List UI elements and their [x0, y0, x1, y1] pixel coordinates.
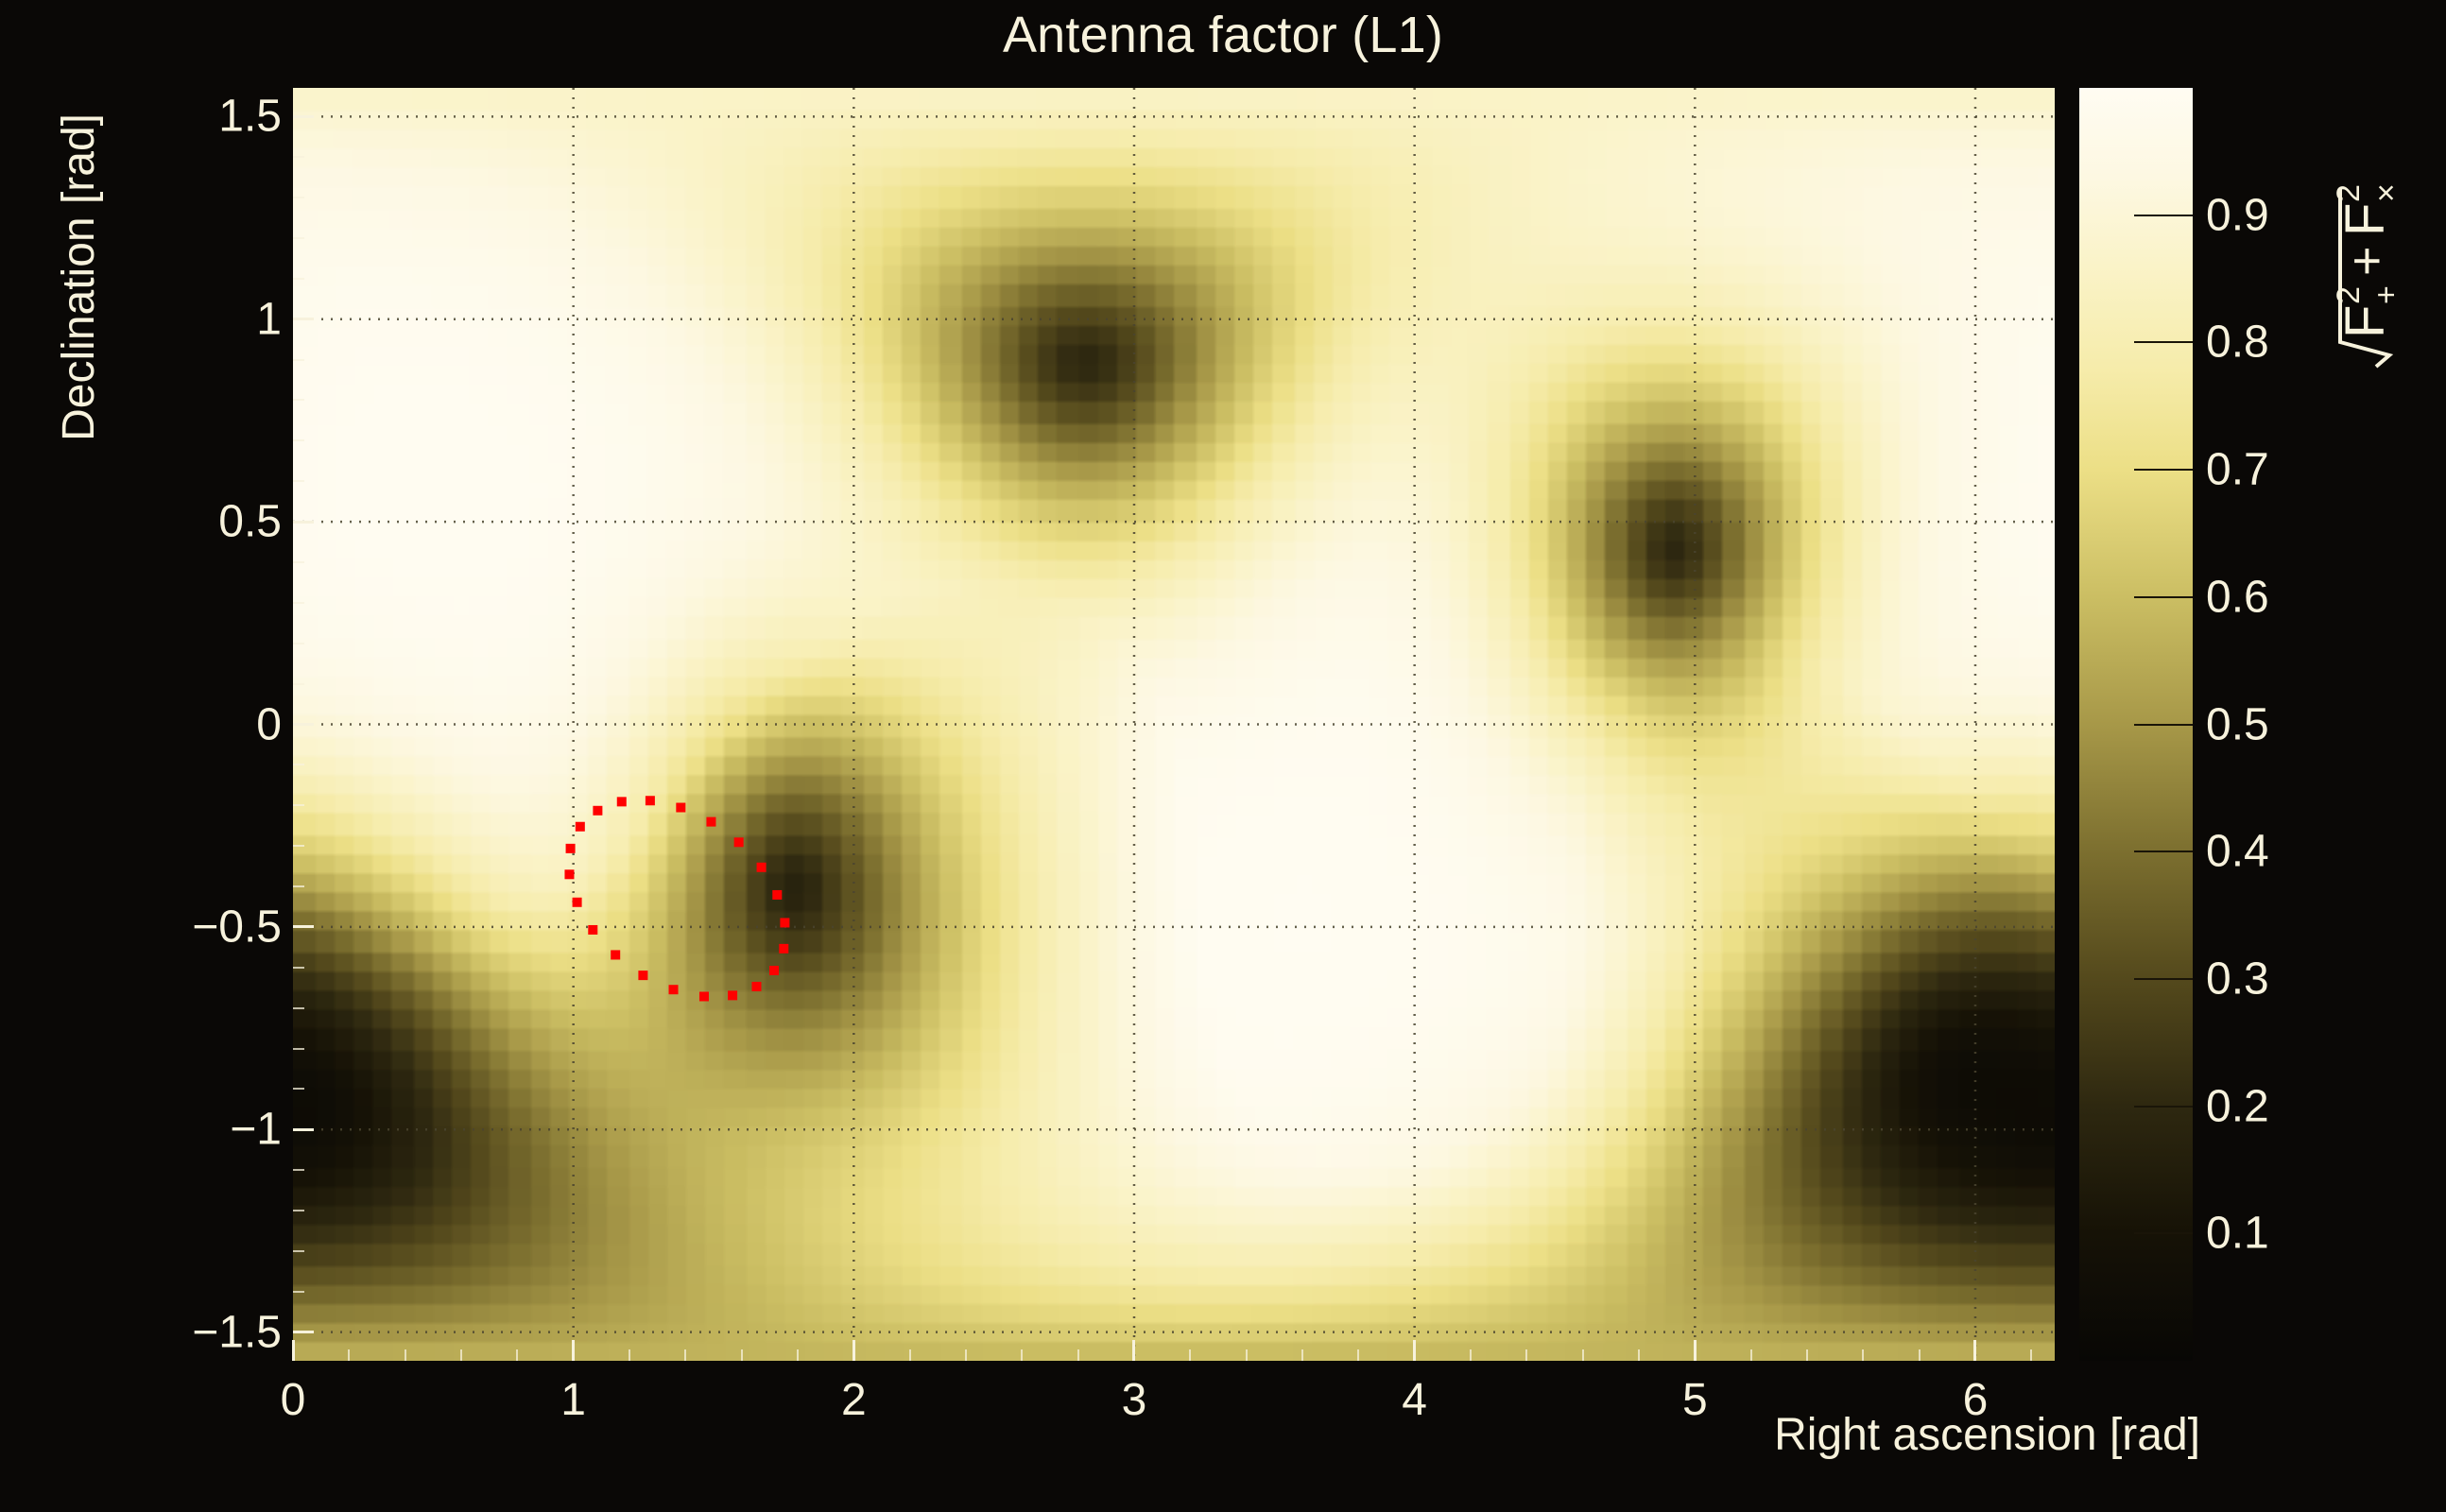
y-tick: [293, 723, 314, 726]
x-minor-tick: [1021, 1349, 1023, 1361]
colorbar-tick-label: 0.9: [2206, 189, 2269, 241]
x-tick: [1132, 1340, 1135, 1361]
colorbar-tick: [2134, 1106, 2193, 1108]
y-minor-tick: [293, 643, 304, 644]
x-minor-tick: [965, 1349, 967, 1361]
y-minor-tick: [293, 399, 304, 401]
x-minor-tick: [741, 1349, 743, 1361]
colorbar-label-text: sqrt(F_plus^2 + F_cross^2): [0, 0, 1, 1]
plot-title: Antenna factor (L1): [0, 6, 2446, 64]
cb-sub1: +: [2368, 285, 2404, 304]
cb-sub2: ×: [2368, 183, 2404, 202]
colorbar-tick: [2134, 341, 2193, 343]
x-minor-tick: [1750, 1349, 1752, 1361]
x-minor-tick: [797, 1349, 799, 1361]
x-tick: [1413, 1340, 1416, 1361]
x-tick-label: 4: [1402, 1374, 1427, 1426]
colorbar-tick-label: 0.3: [2206, 953, 2269, 1005]
x-tick: [1973, 1340, 1976, 1361]
y-minor-tick: [293, 1007, 304, 1009]
cb-term-f2: F: [2334, 203, 2396, 236]
y-tick-label: 1.5: [187, 91, 282, 143]
x-minor-tick: [1470, 1349, 1472, 1361]
colorbar-tick: [2134, 978, 2193, 980]
colorbar-tick-label: 0.7: [2206, 444, 2269, 496]
x-tick-label: 0: [281, 1374, 306, 1426]
plot-frame: [293, 88, 2055, 1361]
y-tick: [293, 521, 314, 524]
y-axis-title: Declination [rad]: [53, 113, 105, 441]
y-tick: [293, 925, 314, 928]
x-tick-label: 5: [1682, 1374, 1708, 1426]
y-tick-label: −1.5: [187, 1306, 282, 1358]
y-minor-tick: [293, 1250, 304, 1252]
y-minor-tick: [293, 237, 304, 239]
x-minor-tick: [1862, 1349, 1864, 1361]
x-minor-tick: [1582, 1349, 1584, 1361]
x-minor-tick: [405, 1349, 406, 1361]
x-minor-tick: [1525, 1349, 1527, 1361]
x-minor-tick: [909, 1349, 911, 1361]
y-minor-tick: [293, 156, 304, 158]
y-minor-tick: [293, 804, 304, 806]
colorbar-tick: [2134, 850, 2193, 852]
y-tick: [293, 115, 314, 118]
x-tick: [572, 1340, 575, 1361]
y-minor-tick: [293, 1169, 304, 1171]
colorbar-tick: [2134, 596, 2193, 598]
colorbar-tick-label: 0.4: [2206, 826, 2269, 878]
colorbar-axis-title: F 2 + + F 2 ×: [2285, 104, 2446, 387]
colorbar-tick-label: 0.5: [2206, 698, 2269, 750]
y-tick-label: 0: [187, 698, 282, 750]
y-minor-tick: [293, 1048, 304, 1050]
x-tick: [1694, 1340, 1697, 1361]
y-minor-tick: [293, 602, 304, 604]
y-tick-label: 1: [187, 293, 282, 345]
y-minor-tick: [293, 683, 304, 685]
y-minor-tick: [293, 1291, 304, 1293]
x-minor-tick: [1189, 1349, 1191, 1361]
x-minor-tick: [1246, 1349, 1248, 1361]
x-tick: [853, 1340, 855, 1361]
x-tick-label: 1: [560, 1374, 586, 1426]
x-minor-tick: [1806, 1349, 1808, 1361]
y-minor-tick: [293, 764, 304, 765]
y-minor-tick: [293, 359, 304, 361]
y-minor-tick: [293, 480, 304, 482]
x-minor-tick: [629, 1349, 630, 1361]
x-minor-tick: [460, 1349, 462, 1361]
y-minor-tick: [293, 439, 304, 441]
cb-term-f1: F: [2334, 305, 2396, 338]
cb-sup1: 2: [2331, 286, 2367, 304]
colorbar-tick-label: 0.6: [2206, 571, 2269, 623]
y-minor-tick: [293, 1088, 304, 1090]
colorbar-tick: [2134, 1232, 2193, 1234]
y-minor-tick: [293, 885, 304, 887]
x-axis-title: Right ascension [rad]: [1774, 1409, 2200, 1461]
cb-sup2: 2: [2331, 184, 2367, 202]
y-tick-label: 0.5: [187, 496, 282, 548]
y-minor-tick: [293, 1210, 304, 1211]
y-minor-tick: [293, 845, 304, 847]
y-tick: [293, 318, 314, 320]
colorbar-tick: [2134, 215, 2193, 216]
sky-localization-contour: [293, 88, 2055, 1361]
x-tick: [292, 1340, 295, 1361]
x-minor-tick: [516, 1349, 518, 1361]
y-tick: [293, 1331, 314, 1333]
colorbar-tick-label: 0.8: [2206, 317, 2269, 369]
x-minor-tick: [2030, 1349, 2032, 1361]
x-minor-tick: [1919, 1349, 1921, 1361]
plot-canvas: Antenna factor (L1) 0123456−1.5−1−0.500.…: [0, 0, 2446, 1512]
y-tick: [293, 1128, 314, 1131]
y-minor-tick: [293, 278, 304, 280]
y-tick-label: −1: [187, 1104, 282, 1156]
colorbar-tick-label: 0.2: [2206, 1080, 2269, 1132]
colorbar-tick-label: 0.1: [2206, 1208, 2269, 1260]
y-minor-tick: [293, 967, 304, 969]
x-minor-tick: [1301, 1349, 1303, 1361]
x-minor-tick: [1638, 1349, 1640, 1361]
x-minor-tick: [684, 1349, 686, 1361]
colorbar-tick: [2134, 469, 2193, 471]
x-tick-label: 3: [1122, 1374, 1147, 1426]
colorbar-tick: [2134, 724, 2193, 726]
x-minor-tick: [348, 1349, 350, 1361]
x-minor-tick: [1357, 1349, 1359, 1361]
x-minor-tick: [1077, 1349, 1079, 1361]
y-tick-label: −0.5: [187, 901, 282, 953]
y-minor-tick: [293, 197, 304, 198]
y-minor-tick: [293, 561, 304, 563]
cb-plus: +: [2338, 246, 2395, 276]
x-tick-label: 2: [841, 1374, 867, 1426]
